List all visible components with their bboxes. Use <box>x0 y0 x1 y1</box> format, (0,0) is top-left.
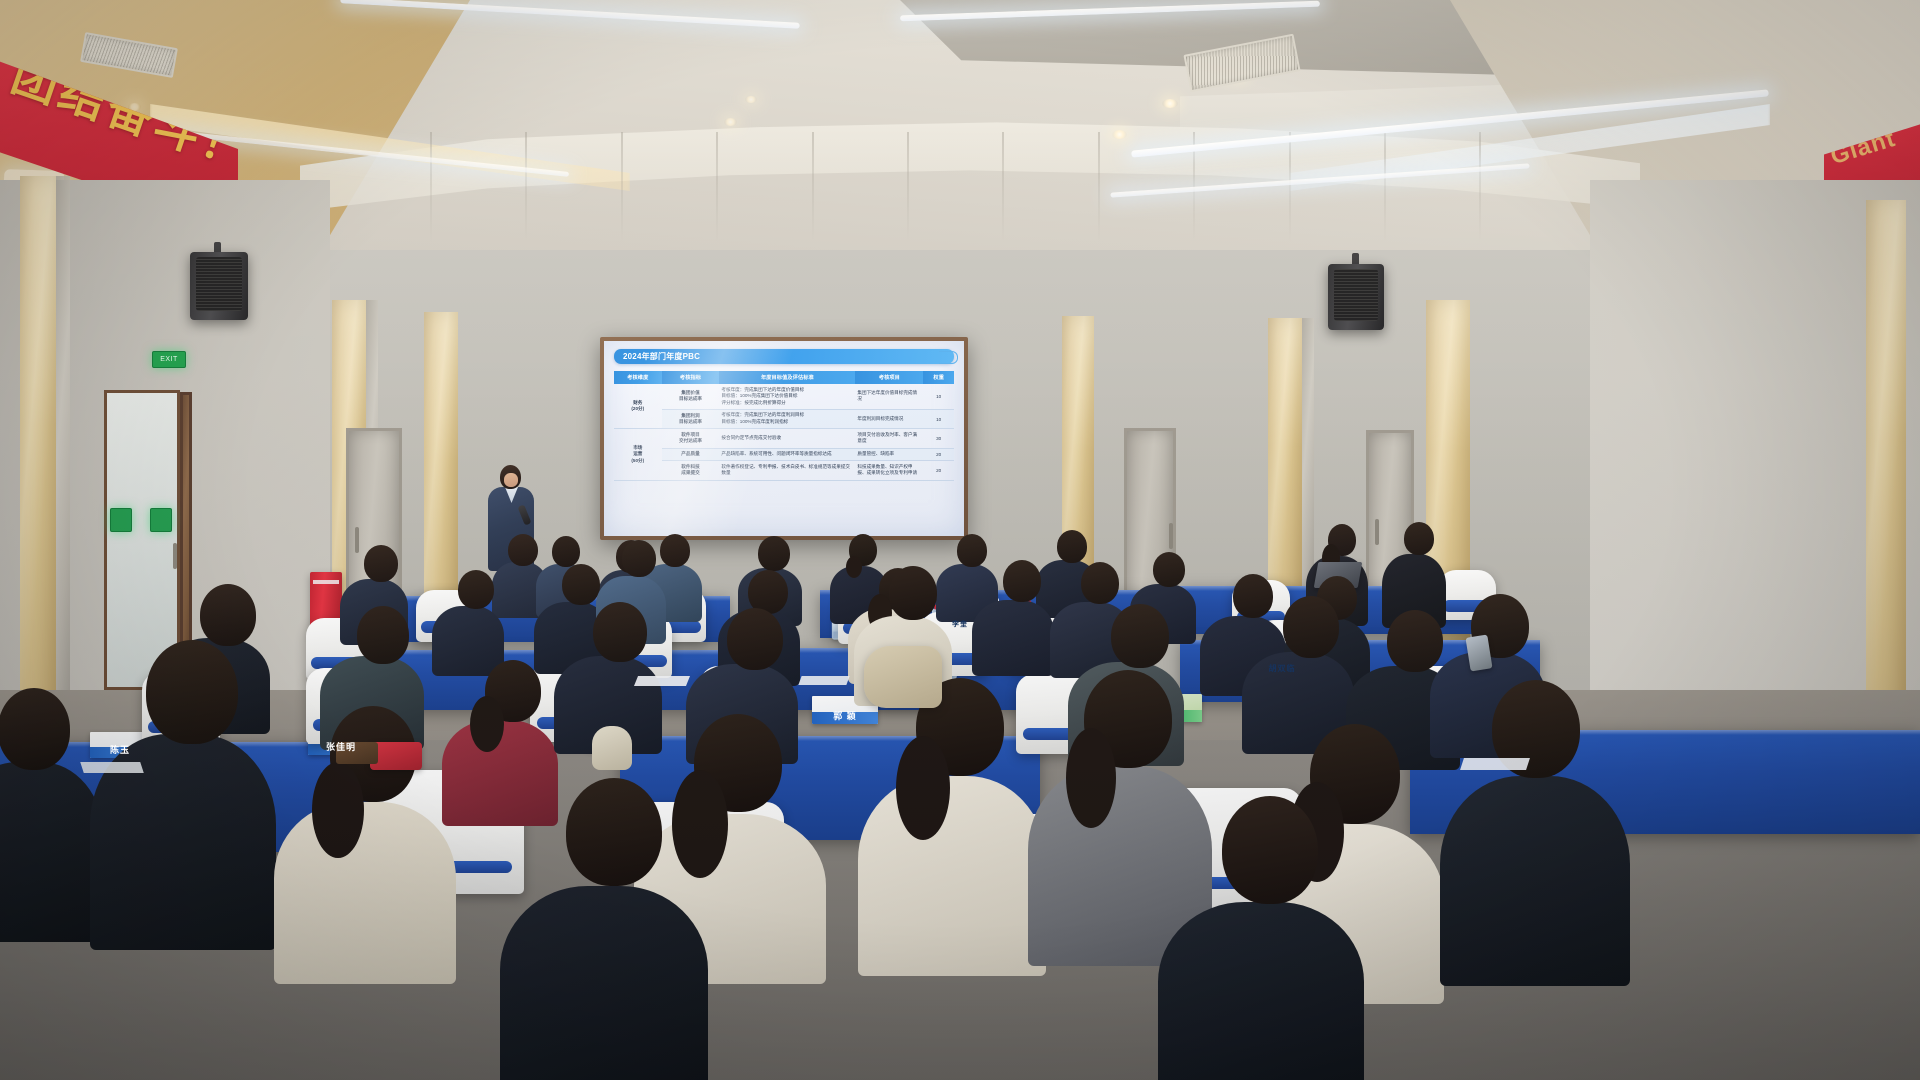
projection-screen: 2024年部门年度PBC 考核维度 考核指标 年度目标值及评估标准 考核项目 权… <box>604 341 964 536</box>
table-row: 市场 运营 (50分) 软件项目 交付达成率 按合同约定节点完成交付验收 项目交… <box>614 429 954 448</box>
cell-weight: 30 <box>923 429 954 448</box>
cell-target: 考核年度：完成集团下达的年度利润目标 目标值：100%完成年度利润指标 <box>719 409 855 428</box>
exit-sign-label: EXIT <box>160 356 178 363</box>
projection-screen-frame: 2024年部门年度PBC 考核维度 考核指标 年度目标值及评估标准 考核项目 权… <box>600 337 968 540</box>
exit-sign-small <box>110 508 132 532</box>
conference-room-photo: 团结奋斗！ Giant EXIT <box>0 0 1920 1080</box>
wall-speaker-right <box>1328 264 1384 330</box>
table-row: 软件科技 成果提交 软件著作权登记、专利申报、技术白皮书、标准规范等成果提交数量… <box>614 461 954 480</box>
table-header-row: 考核维度 考核指标 年度目标值及评估标准 考核项目 权重 <box>614 371 954 384</box>
cell-indicator: 软件科技 成果提交 <box>662 461 720 480</box>
cell-weight: 20 <box>923 461 954 480</box>
cell-project: 集团下达年度价值目标完成情况 <box>855 384 923 409</box>
cell-weight: 20 <box>923 448 954 461</box>
pillar-trim <box>56 176 70 736</box>
th-dimension: 考核维度 <box>614 371 662 384</box>
slide-content: 2024年部门年度PBC 考核维度 考核指标 年度目标值及评估标准 考核项目 权… <box>604 341 964 536</box>
cell-dimension: 市场 运营 (50分) <box>614 429 662 480</box>
cell-target: 软件著作权登记、专利申报、技术白皮书、标准规范等成果提交数量 <box>719 461 855 480</box>
downlight <box>724 118 737 126</box>
cell-indicator: 集团利润 目标达成率 <box>662 409 720 428</box>
cell-dimension: 财务 (20分) <box>614 384 662 429</box>
cell-indicator: 软件项目 交付达成率 <box>662 429 720 448</box>
nameplate-text: 陈玉 <box>110 743 130 756</box>
wall-pillar <box>20 176 56 736</box>
exit-sign-small <box>150 508 172 532</box>
table-body: 财务 (20分) 集团价值 目标达成率 考核年度：完成集团下达的年度价值目标 目… <box>614 384 954 480</box>
table-row: 集团利润 目标达成率 考核年度：完成集团下达的年度利润目标 目标值：100%完成… <box>614 409 954 428</box>
ceiling-rib-group <box>430 132 1490 242</box>
downlight <box>1162 99 1178 108</box>
document[interactable] <box>634 676 690 686</box>
handbag <box>592 726 632 770</box>
table-row: 财务 (20分) 集团价值 目标达成率 考核年度：完成集团下达的年度价值目标 目… <box>614 384 954 409</box>
cell-project: 科技成果数量、知识产权申报、成果转化立项及专利申请 <box>855 461 923 480</box>
th-project: 考核项目 <box>855 371 923 384</box>
downlight <box>745 96 757 103</box>
cell-project: 质量管控、缺陷率 <box>855 448 923 461</box>
cell-project: 项目交付验收及时率、客户满意度 <box>855 429 923 448</box>
downlight <box>1112 130 1127 139</box>
coat-on-chair <box>864 646 942 708</box>
nameplate-text: 张佳明 <box>326 740 356 753</box>
th-target: 年度目标值及评估标准 <box>719 371 855 384</box>
document[interactable] <box>1460 758 1530 770</box>
cell-indicator: 集团价值 目标达成率 <box>662 384 720 409</box>
cell-weight: 10 <box>923 409 954 428</box>
cell-project: 年度利润目标完成情况 <box>855 409 923 428</box>
pbc-table: 考核维度 考核指标 年度目标值及评估标准 考核项目 权重 财务 (20分) 集团… <box>614 371 954 481</box>
cell-target: 考核年度：完成集团下达的年度价值目标 目标值：100%完成集团下达价值目标 评分… <box>719 384 855 409</box>
table-row: 产品质量 产品缺陷率、系统可用性、问题闭环率等质量指标达成 质量管控、缺陷率 2… <box>614 448 954 461</box>
nameplate-text: 胡双临 <box>1269 663 1296 674</box>
cell-weight: 10 <box>923 384 954 409</box>
document[interactable] <box>798 676 849 685</box>
slide-title-bar: 2024年部门年度PBC <box>614 349 954 364</box>
presenter-face <box>504 473 518 487</box>
th-weight: 权重 <box>923 371 954 384</box>
exit-sign: EXIT <box>152 351 186 368</box>
wall-pillar <box>1268 318 1302 608</box>
nameplate-text: 郭 颖 <box>833 709 857 722</box>
entry-door-left[interactable] <box>104 390 180 690</box>
cell-target: 产品缺陷率、系统可用性、问题闭环率等质量指标达成 <box>719 448 855 461</box>
document[interactable] <box>80 762 144 773</box>
nameplate-text: 李奎 <box>952 619 968 629</box>
wall-pillar <box>1866 200 1906 740</box>
th-indicator: 考核指标 <box>662 371 720 384</box>
slide-title-text: 2024年部门年度PBC <box>623 351 700 362</box>
cell-target: 按合同约定节点完成交付验收 <box>719 429 855 448</box>
wall-speaker-left <box>190 252 248 320</box>
cell-indicator: 产品质量 <box>662 448 720 461</box>
